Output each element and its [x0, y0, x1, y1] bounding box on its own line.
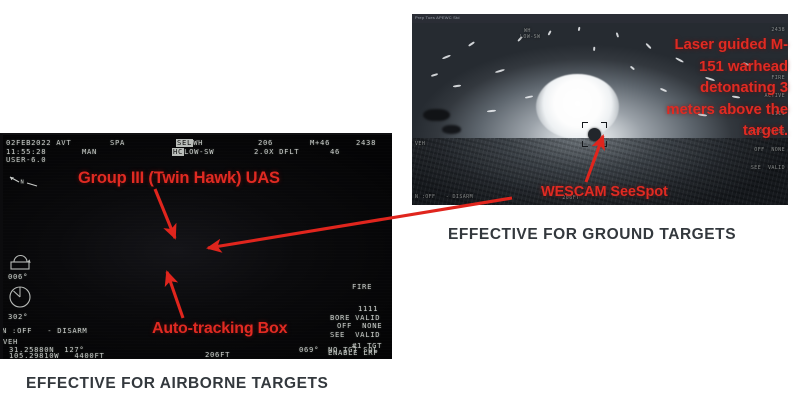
hud-code-value: 2438	[356, 139, 376, 147]
annotation-laser-guided-warhead: Laser guided M-151 warhead detonating 3 …	[664, 34, 788, 142]
hud-fire-label: FIRE	[352, 283, 372, 291]
hud-mode-man: MAN	[82, 148, 97, 156]
hud-arm-state: N :OFF - DISARM	[2, 327, 87, 335]
seespot-laser-dot	[588, 128, 601, 141]
svg-text:N: N	[21, 180, 25, 186]
wescam-seespot-reticle	[582, 122, 607, 147]
hud-zoom-value: 2.0X DFLT	[254, 148, 299, 156]
hud-enable-lrf: ENABLE LRF	[328, 349, 378, 357]
hud-spa-label: SPA	[110, 139, 125, 147]
gp-hud-off-none: OFF NONE	[751, 147, 785, 153]
gp-hud-arm-state: N :OFF - DISARM	[415, 194, 473, 200]
annotation-auto-tracking-box: Auto-tracking Box	[152, 320, 287, 338]
video-window-title: Prep Tues APEWC Std	[415, 15, 460, 20]
gp-hud-see: SEE VALID	[751, 165, 785, 171]
hud-offset-value: 46	[330, 148, 340, 156]
gp-hud-code: 2438	[771, 27, 785, 33]
caption-ground-targets: EFFECTIVE FOR GROUND TARGETS	[448, 226, 736, 244]
video-window-titlebar: Prep Tues APEWC Std	[412, 14, 788, 23]
gp-hud-gain: LOW-SW	[520, 34, 540, 40]
hud-slant-range: 206FT	[205, 351, 230, 359]
hud-longitude: 105.29810W 4400FT	[9, 352, 105, 359]
annotation-group3-uas: Group III (Twin Hawk) UAS	[78, 169, 280, 188]
hud-gain-value: LOW-SW	[184, 147, 214, 156]
hud-elevation-value: 006°	[8, 273, 28, 281]
north-arrow-icon: N	[8, 173, 42, 189]
annotation-wescam-seespot: WESCAM SeeSpot	[541, 184, 668, 200]
azimuth-dial-icon	[8, 285, 34, 311]
hud-heading-value: 069°	[299, 346, 319, 354]
hud-gain-sel: HC	[172, 148, 184, 156]
gp-hud-vehicle: VEH	[415, 141, 425, 147]
infographic-canvas: 02FEB2022 AVT 11:55:28 USER-6.0 MAN SPA …	[0, 0, 800, 410]
sensor-elevation-icon	[8, 251, 34, 271]
hud-see-status: SEE VALID	[330, 331, 380, 339]
hud-m-offset: M+46	[310, 139, 330, 147]
caption-airborne-targets: EFFECTIVE FOR AIRBORNE TARGETS	[26, 375, 328, 393]
hud-azimuth-value: 302°	[8, 313, 28, 321]
hud-user-label: USER-6.0	[6, 156, 46, 164]
